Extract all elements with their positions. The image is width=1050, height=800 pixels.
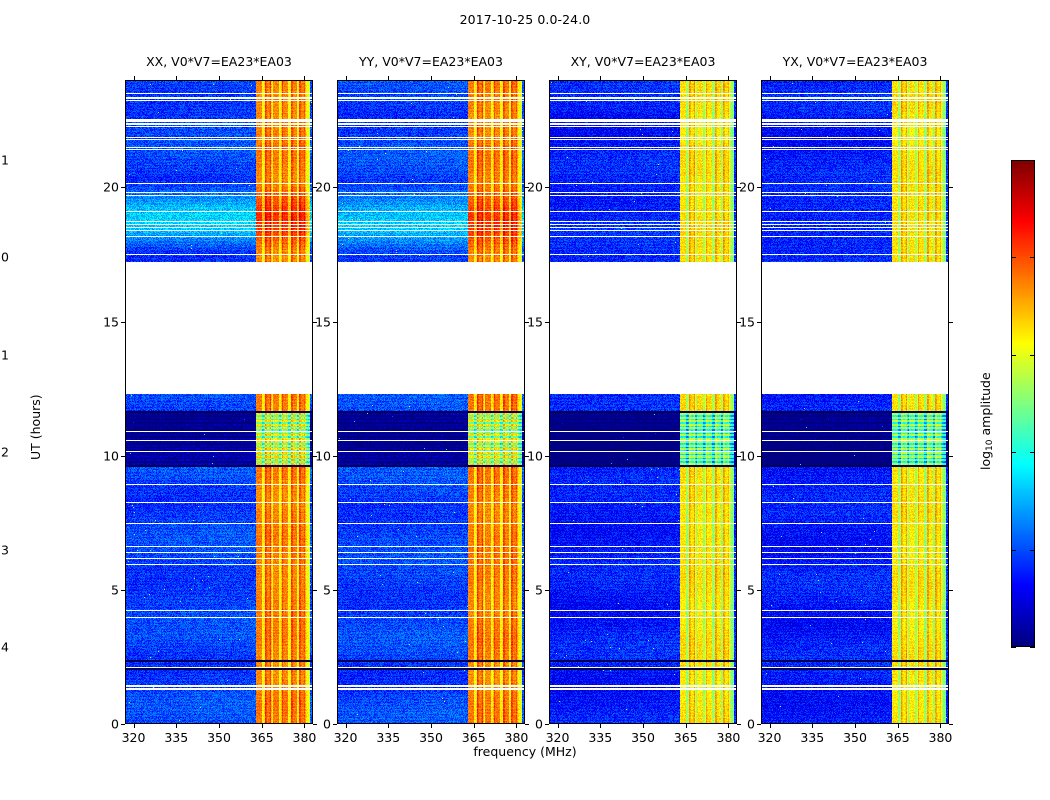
panel-yy[interactable]: YY, V0*V7=EA23*EA03: [337, 80, 525, 724]
colorbar-tick-mark-right-4: [1030, 257, 1035, 258]
xtick-label-xx-365: 365: [250, 730, 274, 745]
xtick-mark-top-xy-380: [728, 76, 729, 80]
xtick-mark-xy-350: [643, 724, 644, 728]
figure-canvas: 2017-10-25 0.0-24.0 XX, V0*V7=EA23*EA03Y…: [0, 0, 1050, 800]
xtick-label-yx-335: 335: [800, 730, 824, 745]
ytick-label-xy-20: 20: [511, 180, 543, 195]
colorbar-tick-mark-right-2: [1030, 452, 1035, 453]
ytick-mark-yx-10: [757, 456, 761, 457]
ytick-mark-yx-20: [757, 187, 761, 188]
ytick-mark-xx-15: [121, 322, 125, 323]
xtick-mark-top-xx-350: [219, 76, 220, 80]
ytick-label-yy-10: 10: [299, 448, 331, 463]
xtick-label-xx-380: 380: [293, 730, 317, 745]
xtick-mark-xy-320: [558, 724, 559, 728]
panel-yx[interactable]: YX, V0*V7=EA23*EA03: [761, 80, 949, 724]
ytick-mark-right-yx-5: [949, 590, 953, 591]
xtick-label-xy-320: 320: [546, 730, 570, 745]
ytick-label-xx-20: 20: [87, 180, 119, 195]
ytick-label-xy-15: 15: [511, 314, 543, 329]
xtick-label-yy-335: 335: [376, 730, 400, 745]
xtick-mark-top-yy-380: [516, 76, 517, 80]
xtick-mark-yy-335: [388, 724, 389, 728]
ytick-mark-xy-10: [545, 456, 549, 457]
colorbar-tick-mark-right-5: [1030, 160, 1035, 161]
xtick-mark-top-yx-320: [770, 76, 771, 80]
xtick-label-yy-365: 365: [462, 730, 486, 745]
ytick-mark-xy-0: [545, 724, 549, 725]
ytick-label-yy-15: 15: [299, 314, 331, 329]
xtick-mark-top-xy-320: [558, 76, 559, 80]
xtick-mark-xx-335: [176, 724, 177, 728]
ytick-label-xy-10: 10: [511, 448, 543, 463]
xtick-mark-top-yy-335: [388, 76, 389, 80]
ytick-mark-right-yx-15: [949, 322, 953, 323]
colorbar-tick-label-4: 0: [0, 250, 9, 265]
ytick-mark-xx-0: [121, 724, 125, 725]
ytick-mark-xy-15: [545, 322, 549, 323]
xtick-mark-xx-320: [134, 724, 135, 728]
xtick-label-xx-320: 320: [122, 730, 146, 745]
ytick-label-yx-20: 20: [723, 180, 755, 195]
xtick-mark-top-xx-335: [176, 76, 177, 80]
xtick-label-yx-380: 380: [929, 730, 953, 745]
xtick-mark-yx-320: [770, 724, 771, 728]
colorbar-tick-mark-0: [1011, 647, 1016, 648]
ytick-mark-yx-5: [757, 590, 761, 591]
ytick-mark-right-yx-10: [949, 456, 953, 457]
ytick-mark-xy-5: [545, 590, 549, 591]
ytick-mark-yy-5: [333, 590, 337, 591]
xtick-label-yy-320: 320: [334, 730, 358, 745]
xtick-mark-top-yx-365: [898, 76, 899, 80]
xtick-label-yx-350: 350: [843, 730, 867, 745]
colorbar-label-suffix: amplitude: [978, 372, 993, 439]
colorbar-tick-mark-2: [1011, 452, 1016, 453]
panel-frame-yx: [761, 80, 949, 724]
colorbar-tick-mark-right-1: [1030, 550, 1035, 551]
colorbar-tick-label-0: −4: [0, 640, 9, 655]
xtick-mark-yx-365: [898, 724, 899, 728]
colorbar-label-prefix: log: [978, 451, 993, 470]
colorbar-gradient: [1011, 160, 1035, 647]
ytick-mark-xy-20: [545, 187, 549, 188]
ytick-label-yy-0: 0: [299, 717, 331, 732]
xtick-mark-top-yy-365: [474, 76, 475, 80]
panel-title-yx: YX, V0*V7=EA23*EA03: [721, 54, 989, 69]
colorbar-tick-label-3: −1: [0, 347, 9, 362]
ytick-mark-xx-10: [121, 456, 125, 457]
xtick-label-xy-350: 350: [631, 730, 655, 745]
figure-suptitle: 2017-10-25 0.0-24.0: [0, 12, 1050, 27]
xtick-mark-top-xy-365: [686, 76, 687, 80]
ytick-label-yx-0: 0: [723, 717, 755, 732]
xtick-mark-top-xx-320: [134, 76, 135, 80]
panel-frame-xx: [125, 80, 313, 724]
panel-frame-yy: [337, 80, 525, 724]
xtick-mark-yx-380: [940, 724, 941, 728]
colorbar-label-subscript: 10: [985, 439, 995, 450]
colorbar-label: log10 amplitude: [978, 372, 995, 470]
xtick-label-xy-380: 380: [717, 730, 741, 745]
xtick-label-yx-365: 365: [886, 730, 910, 745]
ytick-mark-xx-5: [121, 590, 125, 591]
xtick-label-xy-335: 335: [588, 730, 612, 745]
xtick-mark-top-yy-350: [431, 76, 432, 80]
xtick-label-yx-320: 320: [758, 730, 782, 745]
ytick-mark-yx-15: [757, 322, 761, 323]
ytick-label-yx-5: 5: [723, 582, 755, 597]
colorbar-tick-mark-4: [1011, 257, 1016, 258]
xtick-mark-top-xx-365: [262, 76, 263, 80]
x-axis-label: frequency (MHz): [0, 744, 1050, 759]
xtick-mark-yy-320: [346, 724, 347, 728]
xtick-mark-xx-350: [219, 724, 220, 728]
colorbar-tick-mark-right-3: [1030, 355, 1035, 356]
ytick-mark-yy-20: [333, 187, 337, 188]
xtick-mark-top-yx-350: [855, 76, 856, 80]
xtick-mark-yx-350: [855, 724, 856, 728]
ytick-mark-yy-15: [333, 322, 337, 323]
xtick-mark-top-yx-335: [812, 76, 813, 80]
panel-xx[interactable]: XX, V0*V7=EA23*EA03: [125, 80, 313, 724]
ytick-label-xx-15: 15: [87, 314, 119, 329]
xtick-mark-top-xy-350: [643, 76, 644, 80]
ytick-mark-yx-0: [757, 724, 761, 725]
xtick-mark-yy-365: [474, 724, 475, 728]
ytick-label-xx-5: 5: [87, 582, 119, 597]
panel-frame-xy: [549, 80, 737, 724]
xtick-label-xy-365: 365: [674, 730, 698, 745]
ytick-label-yy-5: 5: [299, 582, 331, 597]
colorbar-tick-label-5: 1: [0, 153, 9, 168]
ytick-mark-right-yx-0: [949, 724, 953, 725]
ytick-mark-yy-0: [333, 724, 337, 725]
ytick-label-xy-5: 5: [511, 582, 543, 597]
xtick-mark-xx-365: [262, 724, 263, 728]
xtick-mark-xy-335: [600, 724, 601, 728]
xtick-label-xx-350: 350: [207, 730, 231, 745]
xtick-mark-yx-335: [812, 724, 813, 728]
ytick-label-xx-0: 0: [87, 717, 119, 732]
xtick-mark-top-yx-380: [940, 76, 941, 80]
colorbar-tick-mark-right-0: [1030, 647, 1035, 648]
xtick-label-yy-350: 350: [419, 730, 443, 745]
ytick-label-yx-10: 10: [723, 448, 755, 463]
ytick-label-yy-20: 20: [299, 180, 331, 195]
colorbar-tick-label-1: −3: [0, 542, 9, 557]
xtick-mark-top-yy-320: [346, 76, 347, 80]
ytick-mark-yy-10: [333, 456, 337, 457]
y-axis-label: UT (hours): [28, 394, 43, 460]
colorbar-tick-mark-5: [1011, 160, 1016, 161]
xtick-mark-xy-365: [686, 724, 687, 728]
ytick-mark-right-yx-20: [949, 187, 953, 188]
xtick-mark-top-xx-380: [304, 76, 305, 80]
ytick-label-xy-0: 0: [511, 717, 543, 732]
xtick-label-yy-380: 380: [505, 730, 529, 745]
colorbar: [1011, 160, 1035, 647]
xtick-mark-top-xy-335: [600, 76, 601, 80]
colorbar-tick-label-2: −2: [0, 445, 9, 460]
ytick-label-xx-10: 10: [87, 448, 119, 463]
xtick-label-xx-335: 335: [164, 730, 188, 745]
colorbar-tick-mark-3: [1011, 355, 1016, 356]
panel-xy[interactable]: XY, V0*V7=EA23*EA03: [549, 80, 737, 724]
xtick-mark-yy-350: [431, 724, 432, 728]
ytick-mark-xx-20: [121, 187, 125, 188]
ytick-label-yx-15: 15: [723, 314, 755, 329]
colorbar-tick-mark-1: [1011, 550, 1016, 551]
